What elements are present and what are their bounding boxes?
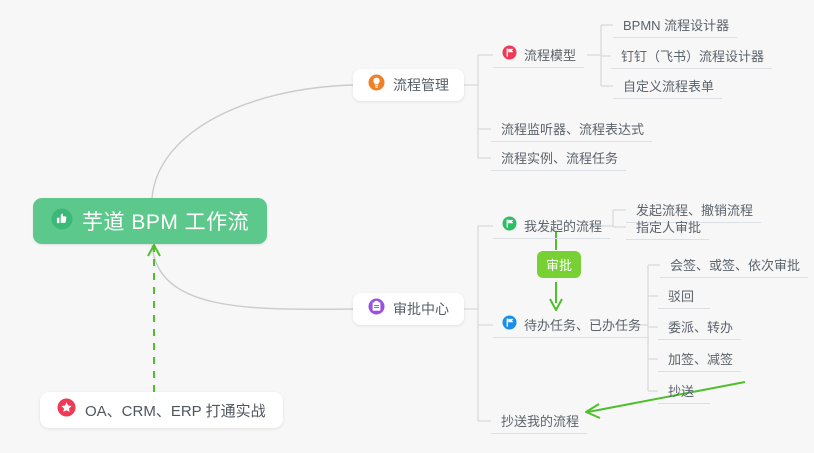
root-node[interactable]: 芋道 BPM 工作流: [33, 198, 267, 244]
leaf-label-parallel-approval: 会签、或签、依次审批: [670, 255, 800, 274]
leaf-label-custom-form: 自定义流程表单: [623, 76, 714, 95]
branch-node-process-management[interactable]: 流程管理: [353, 69, 464, 101]
leaf-node-cc[interactable]: 抄送: [658, 378, 710, 404]
leaf-node-custom-form[interactable]: 自定义流程表单: [613, 73, 722, 99]
leaf-label-reject: 驳回: [668, 286, 694, 305]
leaf-node-dingtalk-designer[interactable]: 钉钉（飞书）流程设计器: [611, 43, 772, 69]
leaf-label-add-remove-signer: 加签、减签: [668, 349, 733, 368]
leaf-node-reject[interactable]: 驳回: [658, 283, 710, 309]
flag-icon: [502, 45, 517, 65]
branch-label-approval-center: 审批中心: [393, 299, 449, 319]
leaf-node-my-initiated[interactable]: 我发起的流程: [493, 213, 610, 239]
branch-node-approval-center[interactable]: 审批中心: [353, 293, 464, 325]
leaf-node-todo-done-tasks[interactable]: 待办任务、已办任务: [493, 312, 649, 338]
leaf-label-cc: 抄送: [668, 381, 694, 400]
link-root-to-approval-center: [152, 245, 353, 309]
leaf-label-cc-to-me: 抄送我的流程: [501, 411, 579, 430]
leaf-label-my-initiated: 我发起的流程: [524, 216, 602, 235]
link-root-to-process-management: [152, 85, 353, 198]
tag-node-approval[interactable]: 审批: [537, 251, 581, 278]
leaf-label-bpmn-designer: BPMN 流程设计器: [623, 15, 729, 34]
leaf-label-todo-done-tasks: 待办任务、已办任务: [524, 315, 641, 334]
leaf-node-parallel-approval[interactable]: 会签、或签、依次审批: [660, 252, 808, 278]
leaf-label-delegate-transfer: 委派、转办: [668, 317, 733, 336]
tag-label-approval: 审批: [546, 255, 572, 274]
note-node-integration[interactable]: OA、CRM、ERP 打通实战: [40, 392, 283, 428]
leaf-node-assigned-approver[interactable]: 指定人审批: [626, 214, 709, 240]
root-label: 芋道 BPM 工作流: [82, 206, 249, 236]
star-icon: [57, 398, 76, 422]
arrow-integration-head: [148, 245, 160, 256]
flag-icon: [502, 216, 517, 236]
note-label-integration: OA、CRM、ERP 打通实战: [85, 400, 266, 421]
flag-icon: [502, 315, 517, 335]
clipboard-icon: [368, 298, 385, 320]
lightbulb-icon: [368, 74, 385, 96]
leaf-node-instance-task[interactable]: 流程实例、流程任务: [491, 145, 626, 171]
arrow-cc-head: [586, 404, 600, 418]
leaf-node-listener-expression[interactable]: 流程监听器、流程表达式: [491, 116, 652, 142]
leaf-node-delegate-transfer[interactable]: 委派、转办: [658, 314, 741, 340]
leaf-node-cc-to-me[interactable]: 抄送我的流程: [491, 408, 587, 434]
leaf-node-process-model[interactable]: 流程模型: [493, 42, 584, 68]
mindmap-canvas: 芋道 BPM 工作流 流程管理 流程模型 BPMN 流程设计器 钉钉（飞书）流程: [0, 0, 814, 453]
leaf-node-bpmn-designer[interactable]: BPMN 流程设计器: [613, 12, 737, 38]
leaf-label-instance-task: 流程实例、流程任务: [501, 148, 618, 167]
thumbs-up-icon: [51, 208, 73, 235]
arrow-approval-head: [550, 299, 562, 310]
branch-label-process-management: 流程管理: [393, 75, 449, 95]
leaf-label-assigned-approver: 指定人审批: [636, 217, 701, 236]
leaf-label-listener-expression: 流程监听器、流程表达式: [501, 119, 644, 138]
leaf-node-add-remove-signer[interactable]: 加签、减签: [658, 346, 741, 372]
leaf-label-dingtalk-designer: 钉钉（飞书）流程设计器: [621, 46, 764, 65]
leaf-label-process-model: 流程模型: [524, 45, 576, 64]
